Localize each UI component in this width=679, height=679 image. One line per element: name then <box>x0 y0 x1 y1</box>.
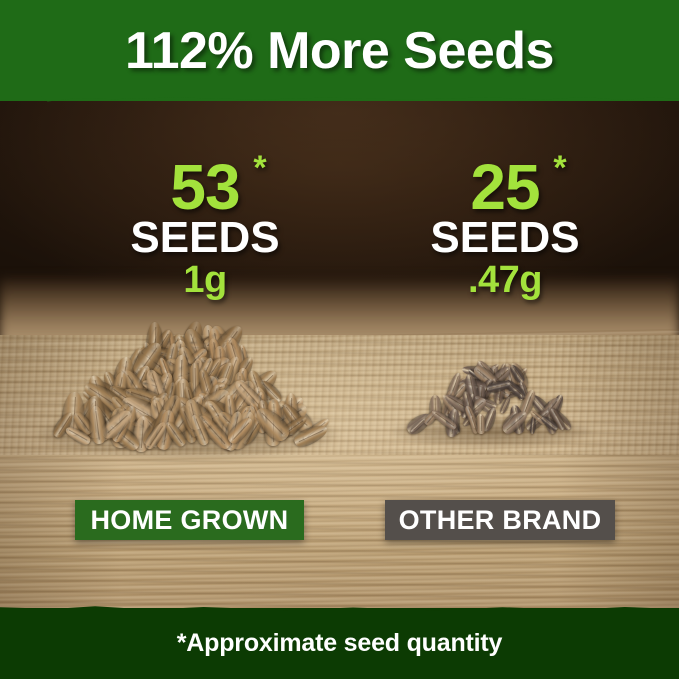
other-brand-weight: .47g <box>385 261 625 301</box>
footer-banner: *Approximate seed quantity <box>0 608 679 679</box>
seed-rib <box>261 412 283 434</box>
other-brand-banner: OTHER BRAND <box>385 500 615 540</box>
seed-rib <box>194 419 204 442</box>
other-brand-asterisk: * <box>553 151 565 185</box>
home-grown-banner-label: HOME GROWN <box>91 505 289 536</box>
home-grown-count: 53 * <box>170 157 239 218</box>
home-grown-count-value: 53 <box>170 151 239 223</box>
seed-comparison-infographic: 112% More Seeds 53 * SEEDS 1g 25 * SEEDS… <box>0 0 679 679</box>
other-brand-seed-pile <box>394 367 594 445</box>
page-title: 112% More Seeds <box>0 0 679 101</box>
other-brand-count: 25 * <box>470 157 539 218</box>
seed-rib <box>486 411 494 429</box>
seed-rib <box>503 399 510 412</box>
seed-rib <box>203 372 209 392</box>
home-grown-stats: 53 * SEEDS 1g <box>85 157 325 301</box>
home-grown-weight: 1g <box>85 261 325 301</box>
seed <box>475 414 486 434</box>
other-brand-banner-label: OTHER BRAND <box>399 505 602 536</box>
other-brand-count-value: 25 <box>470 151 539 223</box>
seed-rib <box>95 410 100 439</box>
seed-rib <box>489 384 507 389</box>
footnote: *Approximate seed quantity <box>0 608 679 679</box>
home-grown-banner: HOME GROWN <box>75 500 304 540</box>
seed-rib <box>299 430 323 442</box>
header-banner: 112% More Seeds <box>0 0 679 101</box>
other-brand-unit-label: SEEDS <box>385 216 625 261</box>
home-grown-seed-pile <box>40 335 340 455</box>
other-brand-stats: 25 * SEEDS .47g <box>385 157 625 301</box>
seed-rib <box>480 416 481 431</box>
home-grown-unit-label: SEEDS <box>85 216 325 261</box>
home-grown-asterisk: * <box>253 151 265 185</box>
